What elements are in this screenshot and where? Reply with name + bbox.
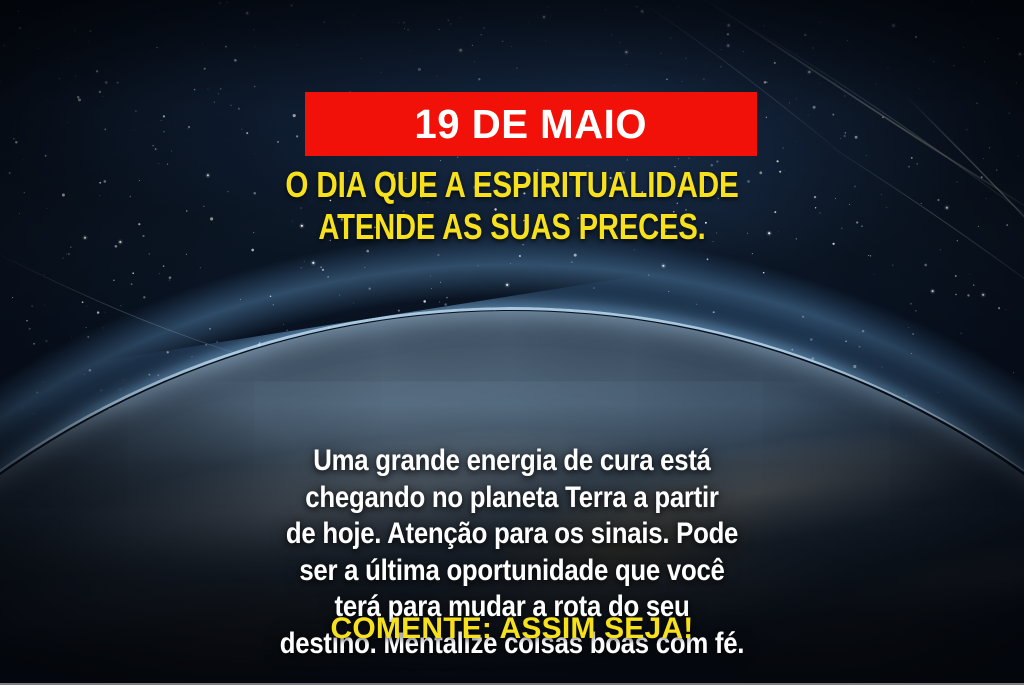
body-copy-line-4: ser a última oportunidade que você: [72, 553, 952, 590]
headline: O DIA QUE A ESPIRITUALIDADE ATENDE AS SU…: [0, 164, 1024, 249]
poster-content: 19 DE MAIO O DIA QUE A ESPIRITUALIDADE A…: [0, 0, 1024, 685]
poster-canvas: 19 DE MAIO O DIA QUE A ESPIRITUALIDADE A…: [0, 0, 1024, 685]
body-copy-line-3: de hoje. Atenção para os sinais. Pode: [72, 516, 952, 553]
date-banner-label: 19 DE MAIO: [415, 104, 648, 145]
call-to-action-text: COMENTE: ASSIM SEJA!: [0, 612, 1024, 645]
headline-line-1: O DIA QUE A ESPIRITUALIDADE: [91, 164, 934, 206]
body-copy-line-2: chegando no planeta Terra a partir: [72, 480, 952, 517]
date-banner: 19 DE MAIO: [305, 92, 757, 156]
headline-line-2: ATENDE AS SUAS PRECES.: [97, 206, 927, 248]
body-copy-line-1: Uma grande energia de cura está: [72, 443, 952, 480]
